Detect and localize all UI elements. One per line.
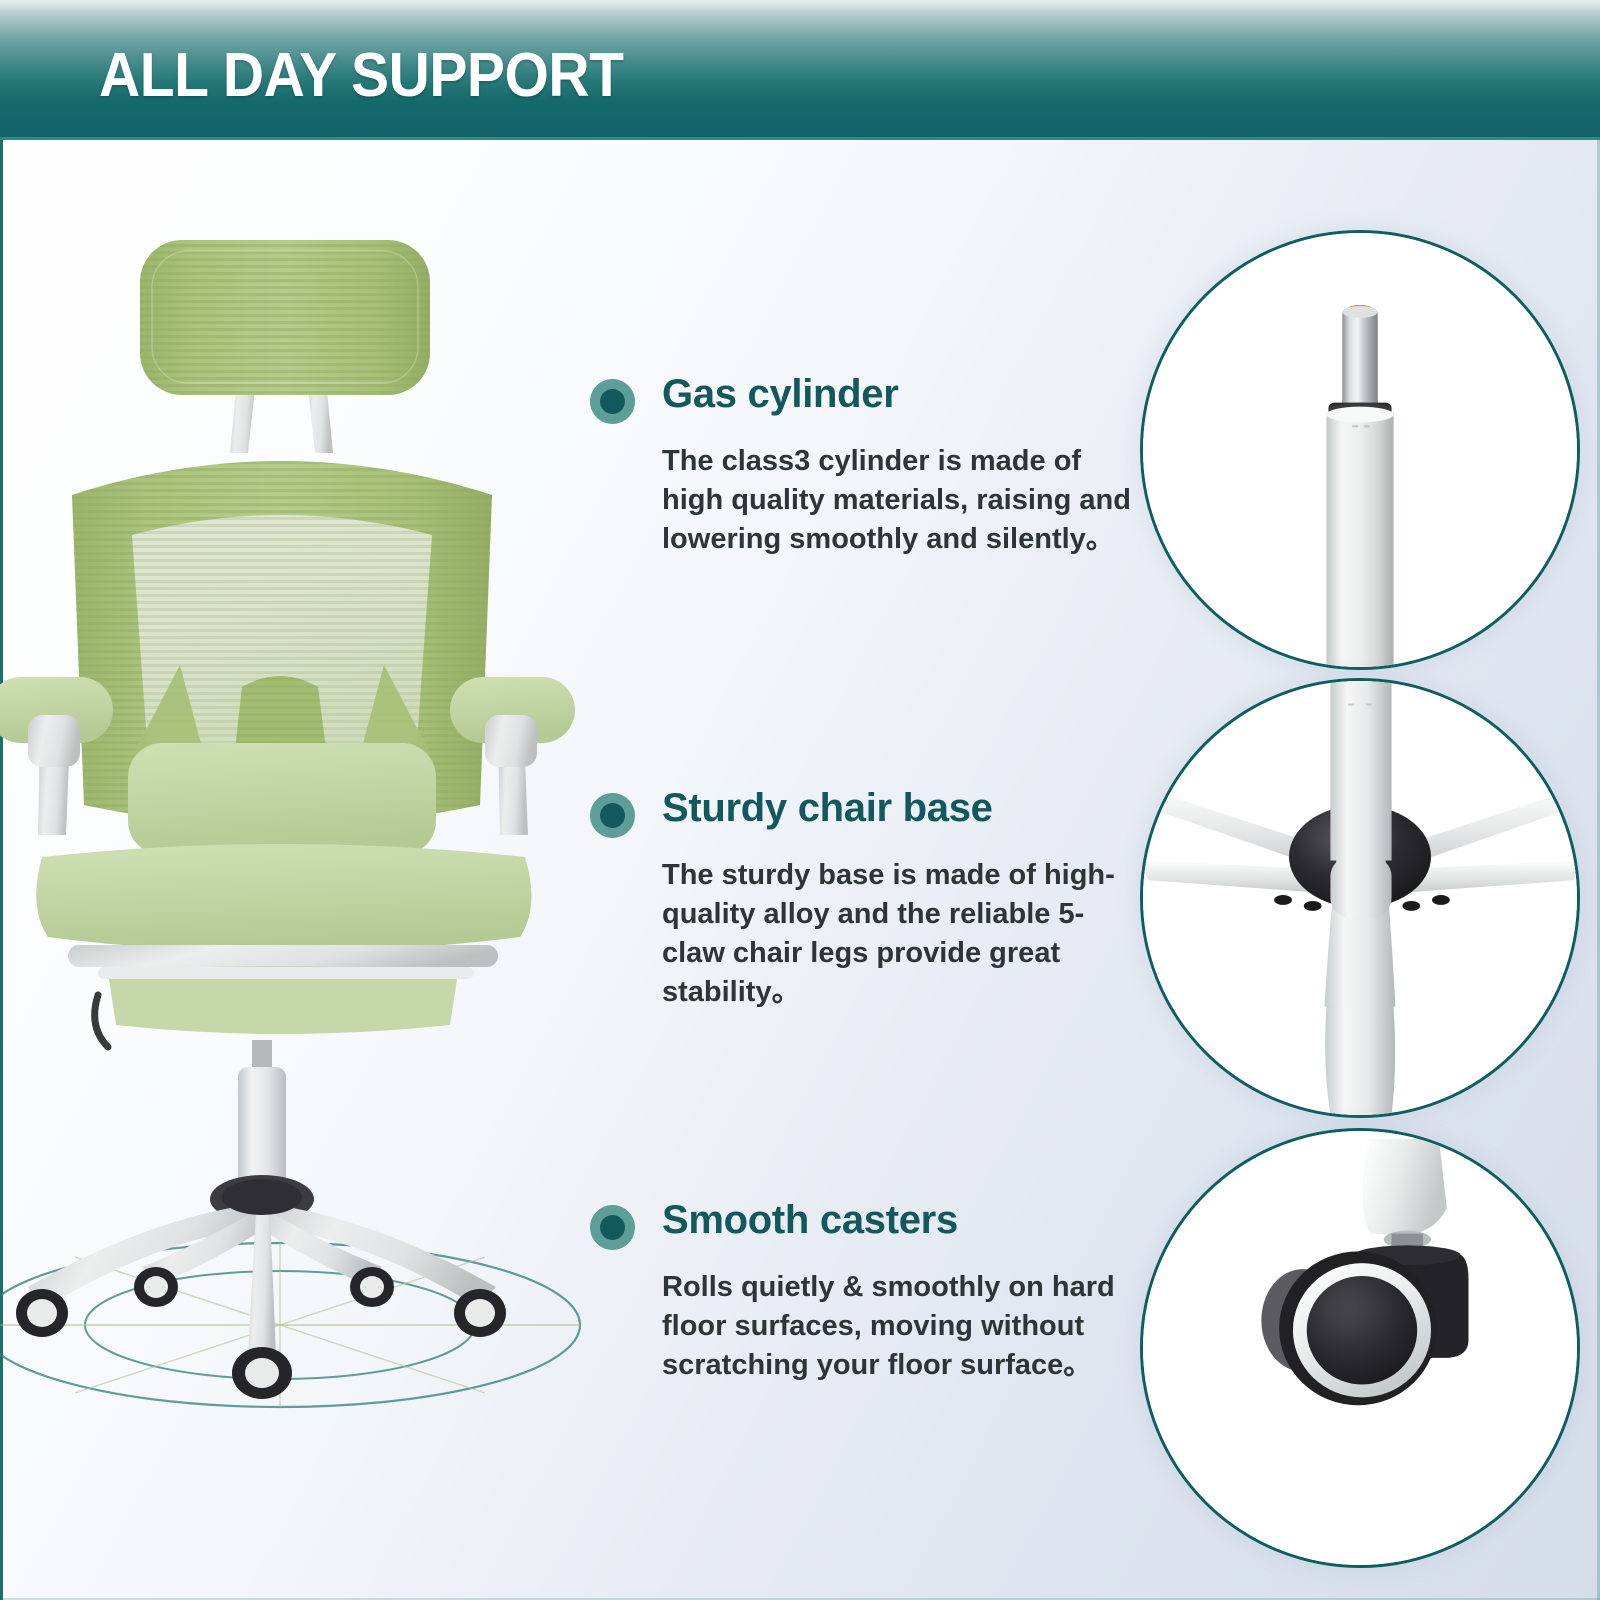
feature-title: Smooth casters [662, 1198, 958, 1243]
feature-body-text: The class3 cylinder is made of high qual… [662, 442, 1132, 559]
feature-body-text: The sturdy base is made of high-quality … [662, 856, 1132, 1011]
gas-cylinder-photo [1140, 230, 1580, 670]
bullet-icon [590, 379, 635, 424]
feature-heading-row: Smooth casters [590, 1198, 1110, 1256]
feature-title: Gas cylinder [662, 372, 899, 417]
feature-title: Sturdy chair base [662, 786, 993, 831]
bullet-icon [590, 793, 635, 838]
feature-item-gas-cylinder: Gas cylinder The class3 cylinder is made… [590, 372, 1110, 559]
feature-item-smooth-casters: Smooth casters Rolls quietly & smoothly … [590, 1198, 1110, 1385]
feature-heading-row: Gas cylinder [590, 372, 1110, 430]
feature-heading-row: Sturdy chair base [590, 786, 1110, 844]
infographic-page: ALL DAY SUPPORT [0, 0, 1600, 1600]
feature-body-text: Rolls quietly & smoothly on hard floor s… [662, 1268, 1132, 1385]
feature-item-sturdy-chair-base: Sturdy chair base The sturdy base is mad… [590, 786, 1110, 1011]
caster-photo [1140, 1128, 1580, 1568]
bullet-icon [590, 1205, 635, 1250]
chair-base-photo [1140, 678, 1580, 1118]
